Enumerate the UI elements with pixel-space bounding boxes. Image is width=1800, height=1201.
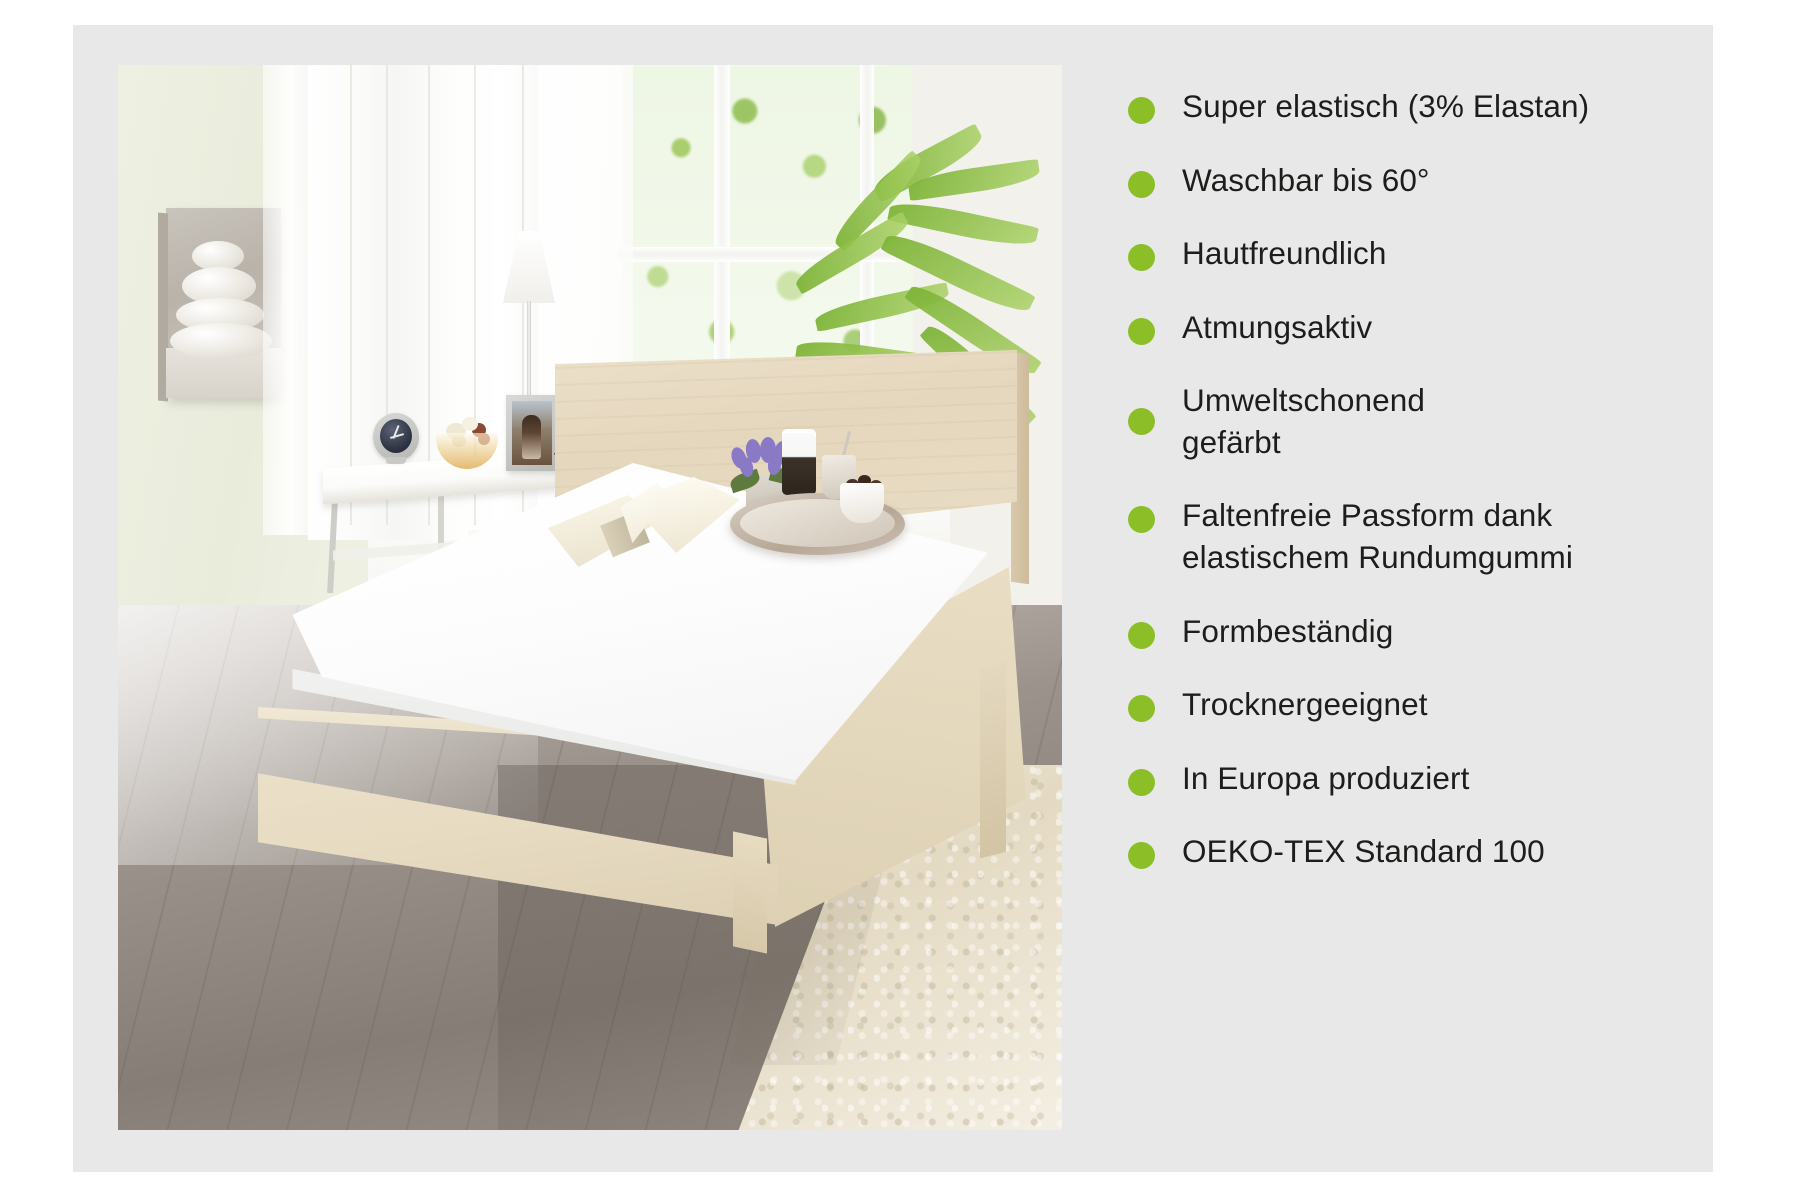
- feature-list: Super elastisch (3% Elastan) Waschbar bi…: [1128, 86, 1688, 905]
- bed-leg: [980, 662, 1006, 858]
- zen-stone: [170, 323, 272, 359]
- bullet-icon: [1128, 622, 1155, 649]
- potpourri-piece: [462, 417, 478, 431]
- curtain-fold: [428, 65, 430, 525]
- page-root: Super elastisch (3% Elastan) Waschbar bi…: [0, 0, 1800, 1201]
- feature-item: Trocknergeeignet: [1128, 684, 1688, 726]
- product-photo: [118, 65, 1062, 1130]
- bullet-icon: [1128, 408, 1155, 435]
- feature-label: OEKO-TEX Standard 100: [1182, 831, 1545, 873]
- feature-label: Waschbar bis 60°: [1182, 160, 1430, 202]
- feature-item: Atmungsaktiv: [1128, 307, 1688, 349]
- bullet-icon: [1128, 244, 1155, 271]
- feature-item: Hautfreundlich: [1128, 233, 1688, 275]
- bullet-icon: [1128, 171, 1155, 198]
- feature-label: Formbeständig: [1182, 611, 1393, 653]
- feature-item: Waschbar bis 60°: [1128, 160, 1688, 202]
- feature-label: Umweltschonend gefärbt: [1182, 380, 1425, 463]
- bullet-icon: [1128, 695, 1155, 722]
- bullet-icon: [1128, 318, 1155, 345]
- photo-frame-person: [522, 415, 541, 459]
- alarm-clock-foot: [386, 457, 406, 464]
- feature-label: In Europa produziert: [1182, 758, 1469, 800]
- feature-item: Formbeständig: [1128, 611, 1688, 653]
- feature-label: Faltenfreie Passform dank elastischem Ru…: [1182, 495, 1573, 578]
- feature-item: OEKO-TEX Standard 100: [1128, 831, 1688, 873]
- chocolate-bowl: [840, 483, 884, 523]
- feature-item: In Europa produziert: [1128, 758, 1688, 800]
- bullet-icon: [1128, 97, 1155, 124]
- thermos: [782, 433, 816, 495]
- curtain-fold: [350, 65, 352, 525]
- feature-item: Super elastisch (3% Elastan): [1128, 86, 1688, 128]
- bullet-icon: [1128, 769, 1155, 796]
- feature-label: Trocknergeeignet: [1182, 684, 1428, 726]
- bed-leg: [733, 831, 767, 953]
- feature-label: Atmungsaktiv: [1182, 307, 1372, 349]
- feature-label: Super elastisch (3% Elastan): [1182, 86, 1589, 128]
- bullet-icon: [1128, 842, 1155, 869]
- bullet-icon: [1128, 506, 1155, 533]
- feature-item: Umweltschonend gefärbt: [1128, 380, 1688, 463]
- feature-label: Hautfreundlich: [1182, 233, 1387, 275]
- feature-item: Faltenfreie Passform dank elastischem Ru…: [1128, 495, 1688, 578]
